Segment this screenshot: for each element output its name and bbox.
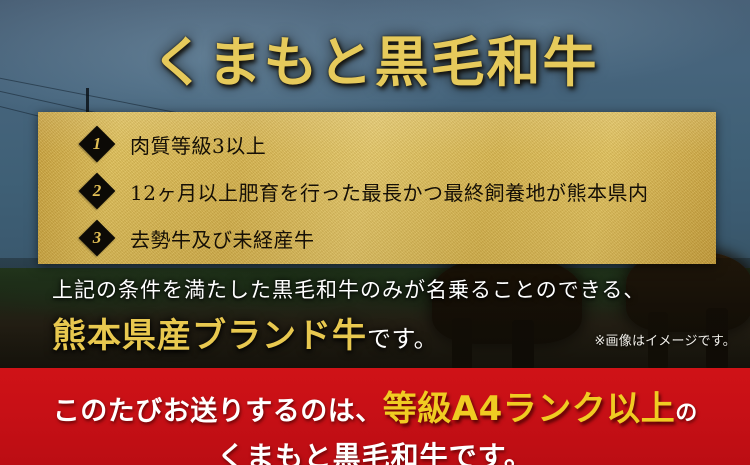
number-badge-icon: 2	[79, 173, 116, 210]
conditions-panel: 1 肉質等級3以上 2 12ヶ月以上肥育を行った最長かつ最終飼養地が熊本県内 3…	[38, 112, 716, 264]
footer-suffix: の	[675, 401, 697, 426]
number-badge-icon: 3	[79, 220, 116, 257]
page-title: くまもと黒毛和牛	[0, 18, 750, 97]
footer-banner: このたびお送りするのは、等級A4ランク以上の くまもと黒毛和牛です。	[0, 368, 750, 465]
footer-grade-highlight: 等級A4ランク以上	[383, 389, 675, 429]
middle-line-1: 上記の条件を満たした黒毛和牛のみが名乗ることのできる、	[0, 266, 750, 304]
footer-line-2: くまもと黒毛和牛です。	[0, 430, 750, 465]
brand-suffix: です。	[367, 325, 438, 353]
brand-highlight: 熊本県産ブランド牛	[52, 316, 367, 356]
list-item: 2 12ヶ月以上肥育を行った最長かつ最終飼養地が熊本県内	[38, 171, 716, 211]
footer-prefix: このたびお送りするのは、	[53, 396, 383, 427]
badge-number: 2	[84, 178, 110, 204]
condition-text: 肉質等級3以上	[130, 130, 266, 159]
list-item: 1 肉質等級3以上	[38, 124, 716, 164]
condition-text: 12ヶ月以上肥育を行った最長かつ最終飼養地が熊本県内	[130, 177, 648, 206]
footer-line-1: このたびお送りするのは、等級A4ランク以上の	[0, 368, 750, 430]
number-badge-icon: 1	[79, 126, 116, 163]
conditions-list: 1 肉質等級3以上 2 12ヶ月以上肥育を行った最長かつ最終飼養地が熊本県内 3…	[38, 112, 716, 258]
list-item: 3 去勢牛及び未経産牛	[38, 218, 716, 258]
promo-banner: くまもと黒毛和牛 1 肉質等級3以上 2 12ヶ月以上肥育を行った最長かつ最終飼…	[0, 0, 750, 465]
badge-number: 1	[84, 131, 110, 157]
badge-number: 3	[84, 225, 110, 251]
image-disclaimer: ※画像はイメージです。	[594, 330, 736, 349]
condition-text: 去勢牛及び未経産牛	[130, 224, 315, 253]
